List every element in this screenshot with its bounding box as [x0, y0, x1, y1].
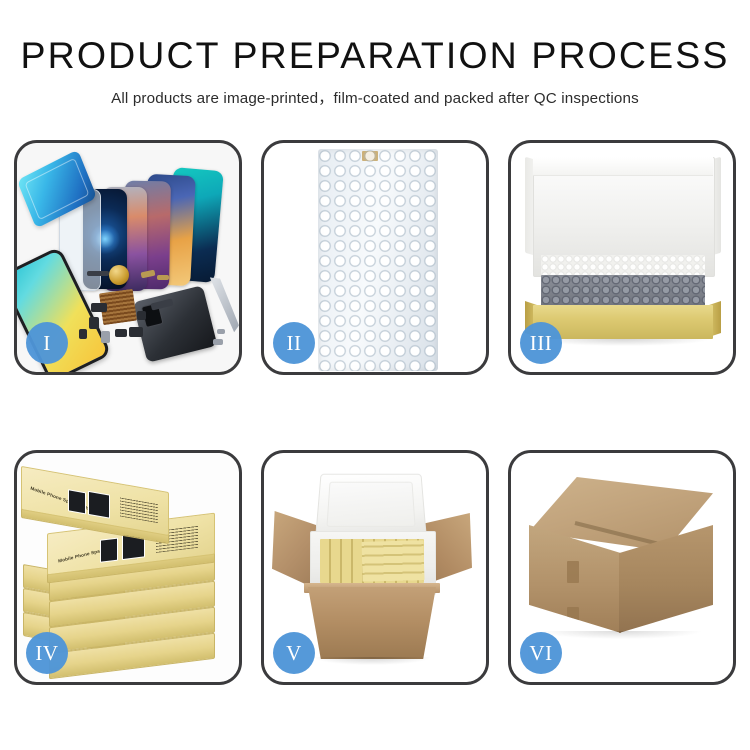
step-badge-3: III [520, 322, 562, 364]
shipping-carton-open [308, 587, 436, 659]
step-badge-4: IV [26, 632, 68, 674]
step-badge-1: I [26, 322, 68, 364]
header: PRODUCT PREPARATION PROCESS All products… [0, 34, 750, 108]
bubble-wrap-bag [318, 149, 438, 371]
step-card-4: Mobile Phone Spare Parts Mobile Phone Sp… [14, 450, 242, 685]
product-preparation-infographic: PRODUCT PREPARATION PROCESS All products… [0, 0, 750, 750]
step-badge-2: II [273, 322, 315, 364]
bubble-wrapped-contents [541, 275, 705, 309]
page-subtitle: All products are image-printed，film-coat… [0, 86, 750, 108]
foam-box-lid [315, 474, 427, 538]
page-title: PRODUCT PREPARATION PROCESS [0, 34, 750, 77]
step-badge-5: V [273, 632, 315, 674]
step-card-6: VI [508, 450, 736, 685]
step-card-5: V [261, 450, 489, 685]
step-card-1: I [14, 140, 242, 375]
step-card-2: II [261, 140, 489, 375]
step-card-3: III [508, 140, 736, 375]
process-steps-grid: I II [14, 140, 736, 685]
speaker-part [109, 265, 129, 285]
step-badge-6: VI [520, 632, 562, 674]
